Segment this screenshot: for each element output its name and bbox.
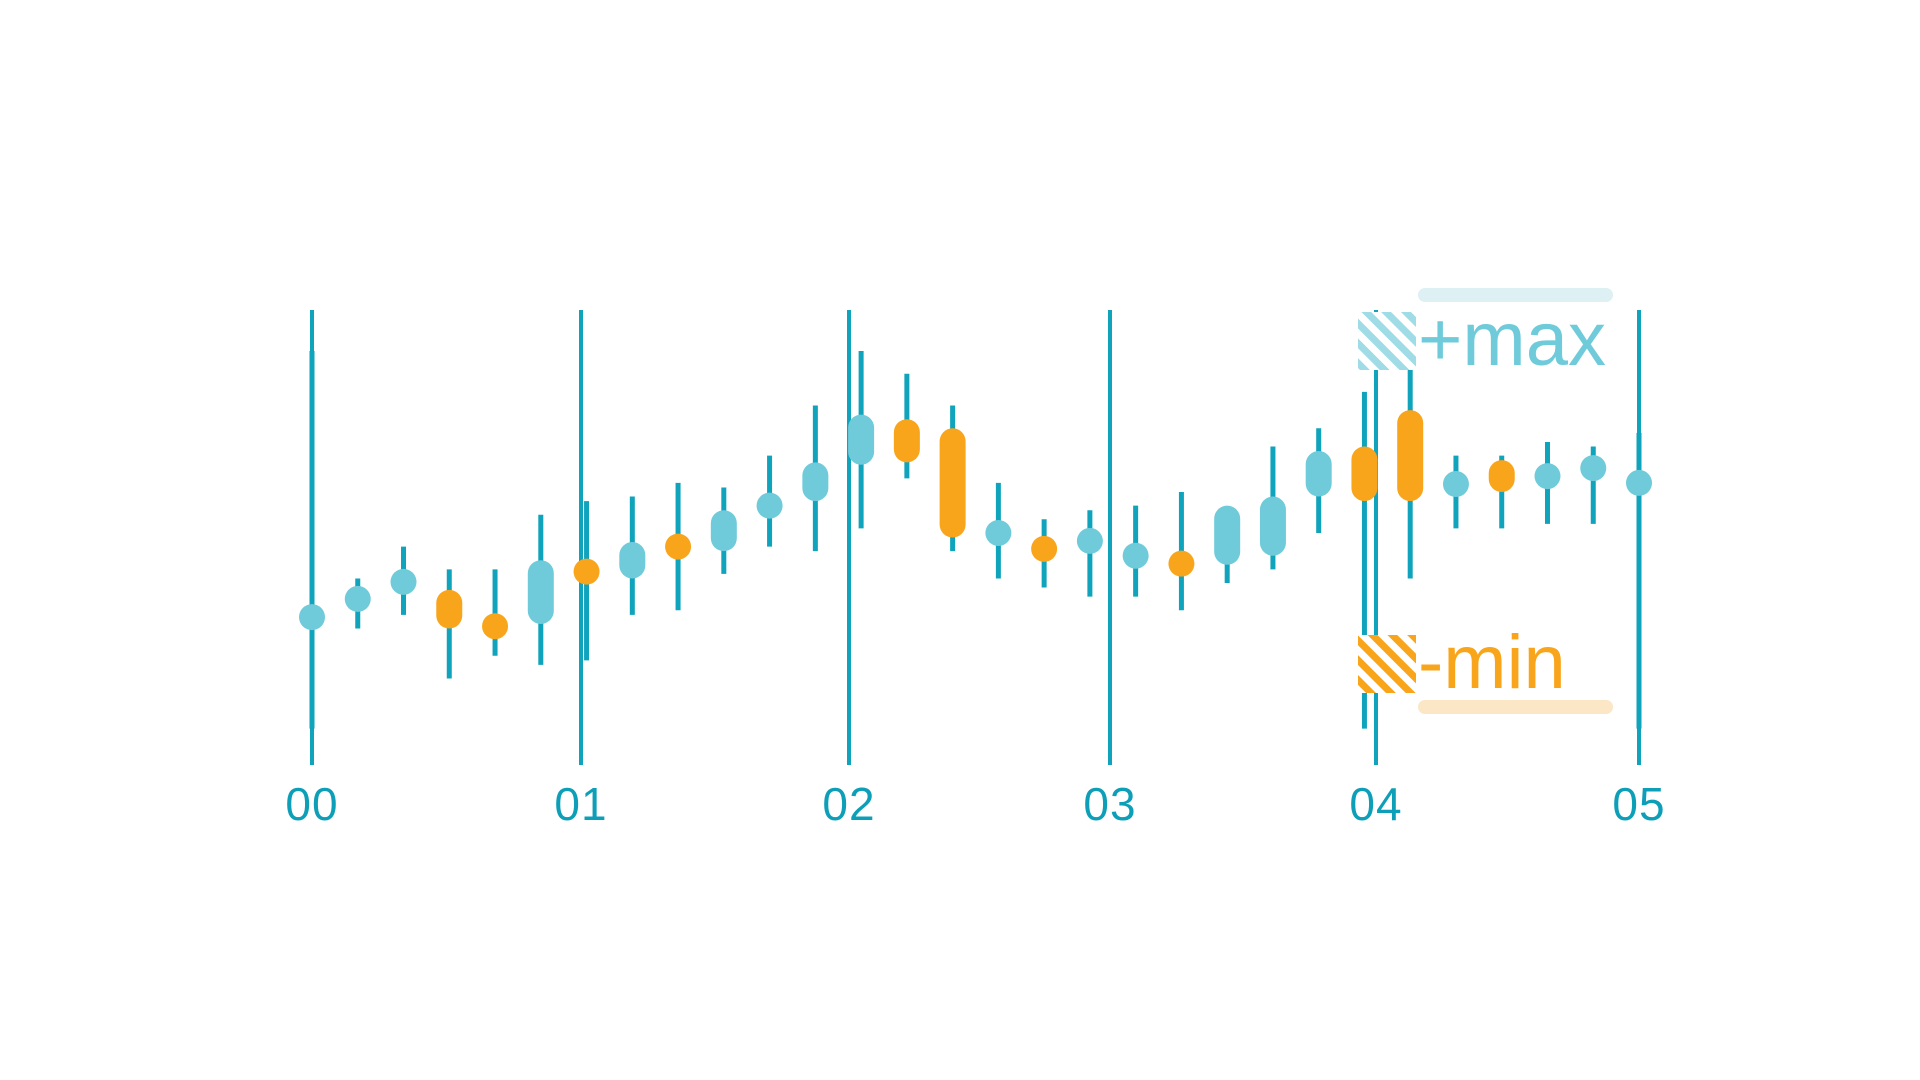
candle-body xyxy=(1397,410,1423,501)
legend-max-label: +max xyxy=(1418,297,1606,382)
legend-min-label: -min xyxy=(1418,620,1566,705)
candle-body xyxy=(848,415,874,465)
candle[interactable] xyxy=(1168,492,1194,610)
legend-min-bar xyxy=(1418,700,1613,714)
candle[interactable] xyxy=(1443,456,1469,529)
candle[interactable] xyxy=(757,456,783,547)
candlestick-chart: +max -min 000102030405 xyxy=(0,0,1920,1080)
candle-body xyxy=(1214,506,1240,565)
x-tick-label-04: 04 xyxy=(1349,778,1402,830)
candle-body xyxy=(985,520,1011,546)
x-axis-tick-labels: 000102030405 xyxy=(285,778,1665,830)
candle[interactable] xyxy=(711,487,737,573)
candle[interactable] xyxy=(574,501,600,660)
candle-body xyxy=(619,542,645,578)
candle[interactable] xyxy=(802,406,828,552)
candle[interactable] xyxy=(1626,433,1652,729)
x-tick-label-03: 03 xyxy=(1083,778,1136,830)
candle[interactable] xyxy=(848,351,874,528)
candle-body xyxy=(391,569,417,595)
candle[interactable] xyxy=(528,515,554,665)
x-tick-label-00: 00 xyxy=(285,778,338,830)
legend-entry-min[interactable]: -min xyxy=(1358,620,1613,714)
candle-body xyxy=(1534,463,1560,489)
candle[interactable] xyxy=(1397,351,1423,579)
candle-body xyxy=(574,559,600,585)
candle-body xyxy=(1123,543,1149,569)
candle-body xyxy=(1489,460,1515,492)
x-tick-label-02: 02 xyxy=(822,778,875,830)
candle-body xyxy=(1351,447,1377,502)
candle-body xyxy=(940,428,966,537)
candle-body xyxy=(1168,551,1194,577)
x-tick-label-01: 01 xyxy=(554,778,607,830)
candle[interactable] xyxy=(1306,428,1332,533)
candle-body xyxy=(802,462,828,501)
candle-body xyxy=(1443,471,1469,497)
legend-min-swatch-icon xyxy=(1358,635,1416,693)
candle-body xyxy=(299,604,325,630)
candle[interactable] xyxy=(894,374,920,479)
legend-entry-max[interactable]: +max xyxy=(1358,288,1613,382)
candle[interactable] xyxy=(299,351,325,729)
candle[interactable] xyxy=(619,497,645,615)
candle[interactable] xyxy=(985,483,1011,579)
candle-body xyxy=(482,613,508,639)
candle-body xyxy=(1306,451,1332,497)
candle[interactable] xyxy=(1123,506,1149,597)
chart-canvas: +max -min 000102030405 xyxy=(0,0,1920,1080)
candle-body xyxy=(711,510,737,551)
candle-body xyxy=(345,586,371,612)
candle-body xyxy=(665,534,691,560)
candle-body xyxy=(1260,497,1286,556)
candle[interactable] xyxy=(1580,447,1606,524)
candle[interactable] xyxy=(1031,519,1057,587)
candle[interactable] xyxy=(391,547,417,615)
candle[interactable] xyxy=(1077,510,1103,596)
candle-body xyxy=(436,590,462,629)
candle-body xyxy=(1077,528,1103,554)
candle[interactable] xyxy=(345,578,371,628)
legend-max-swatch-icon xyxy=(1358,312,1416,370)
candle[interactable] xyxy=(482,569,508,655)
candle[interactable] xyxy=(436,569,462,678)
candle[interactable] xyxy=(1489,456,1515,529)
candle-body xyxy=(1031,536,1057,562)
candle[interactable] xyxy=(1214,506,1240,583)
candle-body xyxy=(757,493,783,519)
candle[interactable] xyxy=(940,406,966,552)
x-tick-label-05: 05 xyxy=(1612,778,1665,830)
candle[interactable] xyxy=(1534,442,1560,524)
candle[interactable] xyxy=(1260,447,1286,570)
candle[interactable] xyxy=(665,483,691,610)
candle-body xyxy=(528,560,554,624)
candle-body xyxy=(1580,455,1606,481)
candle-body xyxy=(894,419,920,462)
candle-body xyxy=(1626,470,1652,496)
